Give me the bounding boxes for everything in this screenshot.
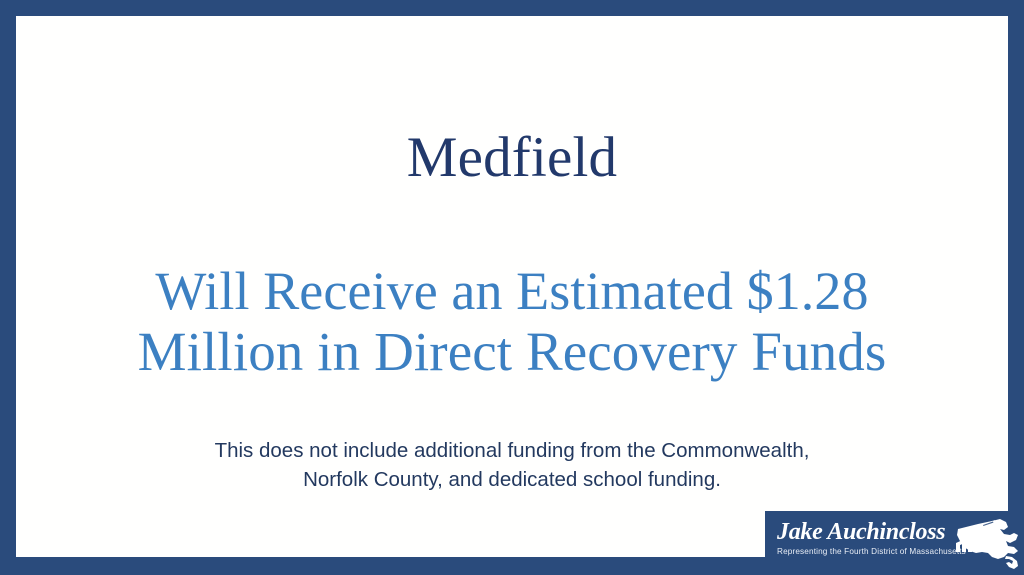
brand-logo: Jake Auchincloss Representing the Fourth…: [765, 511, 1024, 575]
subtitle-line-1: This does not include additional funding…: [106, 436, 918, 465]
slide-root: Medfield Will Receive an Estimated $1.28…: [0, 0, 1024, 575]
headline: Will Receive an Estimated $1.28 Million …: [76, 261, 948, 383]
subtitle-note: This does not include additional funding…: [106, 436, 918, 494]
headline-line-1: Will Receive an Estimated $1.28: [76, 261, 948, 321]
massachusetts-state-outline-icon: [948, 513, 1022, 571]
headline-line-2: Million in Direct Recovery Funds: [76, 321, 948, 383]
slide-canvas: Medfield Will Receive an Estimated $1.28…: [16, 16, 1008, 557]
page-title: Medfield: [16, 128, 1008, 188]
subtitle-line-2: Norfolk County, and dedicated school fun…: [106, 465, 918, 494]
